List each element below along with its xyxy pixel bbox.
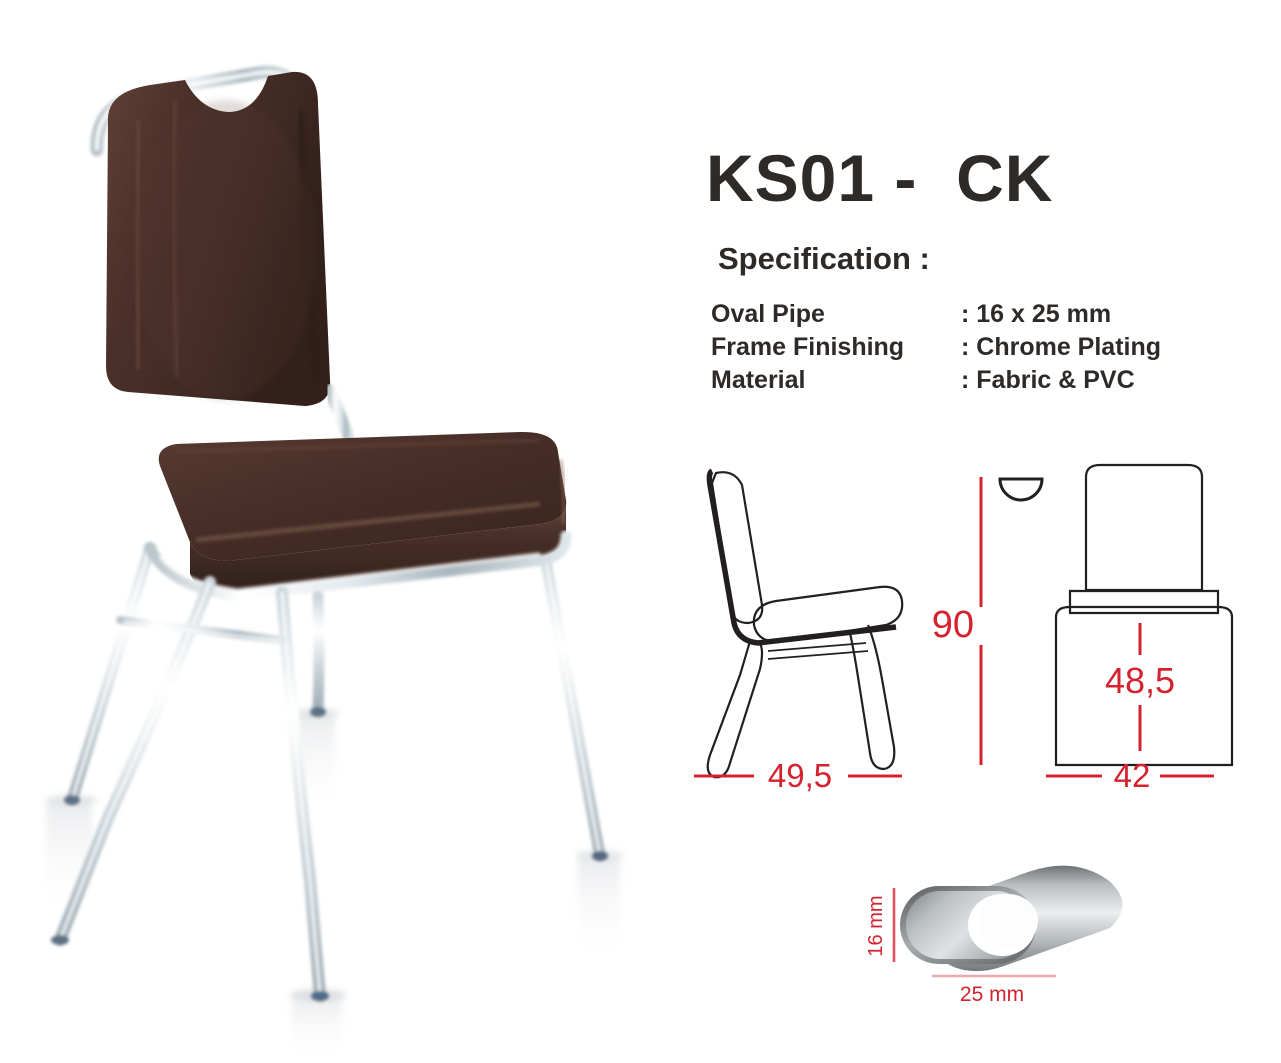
dimension-pipe-minor-label: 16 mm [865, 895, 887, 956]
oval-pipe-figure: 16 mm 25 mm [860, 858, 1160, 1018]
specification-table: Oval Pipe : 16 x 25 mm Frame Finishing :… [711, 298, 1161, 397]
spec-value-oval-pipe: : 16 x 25 mm [961, 298, 1111, 331]
product-photo [0, 0, 660, 1063]
dimension-seat-height: 48,5 [1105, 623, 1175, 751]
spec-label-material: Material [711, 364, 961, 397]
spec-row-oval-pipe: Oval Pipe : 16 x 25 mm [711, 298, 1161, 331]
dimension-depth-label: 49,5 [768, 757, 832, 794]
seat-cushion [159, 432, 566, 595]
spec-row-frame-finishing: Frame Finishing : Chrome Plating [711, 331, 1161, 364]
technical-drawings: 49,5 90 [690, 455, 1250, 835]
backrest-cushion [106, 72, 330, 406]
dimension-height: 90 [932, 477, 981, 765]
dimension-pipe-minor: 16 mm [865, 888, 894, 962]
chair-rear-legs [64, 548, 608, 861]
front-view-drawing [1056, 465, 1232, 765]
dimension-seat-height-label: 48,5 [1105, 660, 1175, 701]
spec-value-material: : Fabric & PVC [961, 364, 1135, 397]
chair-front-legs [51, 582, 329, 1001]
dimension-width-label: 42 [1114, 757, 1151, 794]
spec-label-frame-finishing: Frame Finishing [711, 331, 961, 364]
half-circle-icon [1000, 479, 1042, 500]
dimension-pipe-major: 25 mm [932, 976, 1056, 1006]
specification-heading: Specification : [718, 241, 930, 277]
spec-label-oval-pipe: Oval Pipe [711, 298, 961, 331]
dimension-depth: 49,5 [694, 757, 902, 794]
product-spec-sheet: KS01 - CK Specification : Oval Pipe : 16… [0, 0, 1281, 1063]
dimension-height-label: 90 [932, 604, 974, 646]
spec-row-material: Material : Fabric & PVC [711, 364, 1161, 397]
spec-value-frame-finishing: : Chrome Plating [961, 331, 1161, 364]
page-title: KS01 - CK [706, 140, 1053, 216]
backrest-right-post [330, 390, 352, 446]
pipe-front-face [900, 886, 1038, 964]
side-view-drawing [708, 471, 902, 777]
dimension-pipe-major-label: 25 mm [960, 983, 1024, 1006]
dimension-width: 42 [1046, 757, 1214, 794]
